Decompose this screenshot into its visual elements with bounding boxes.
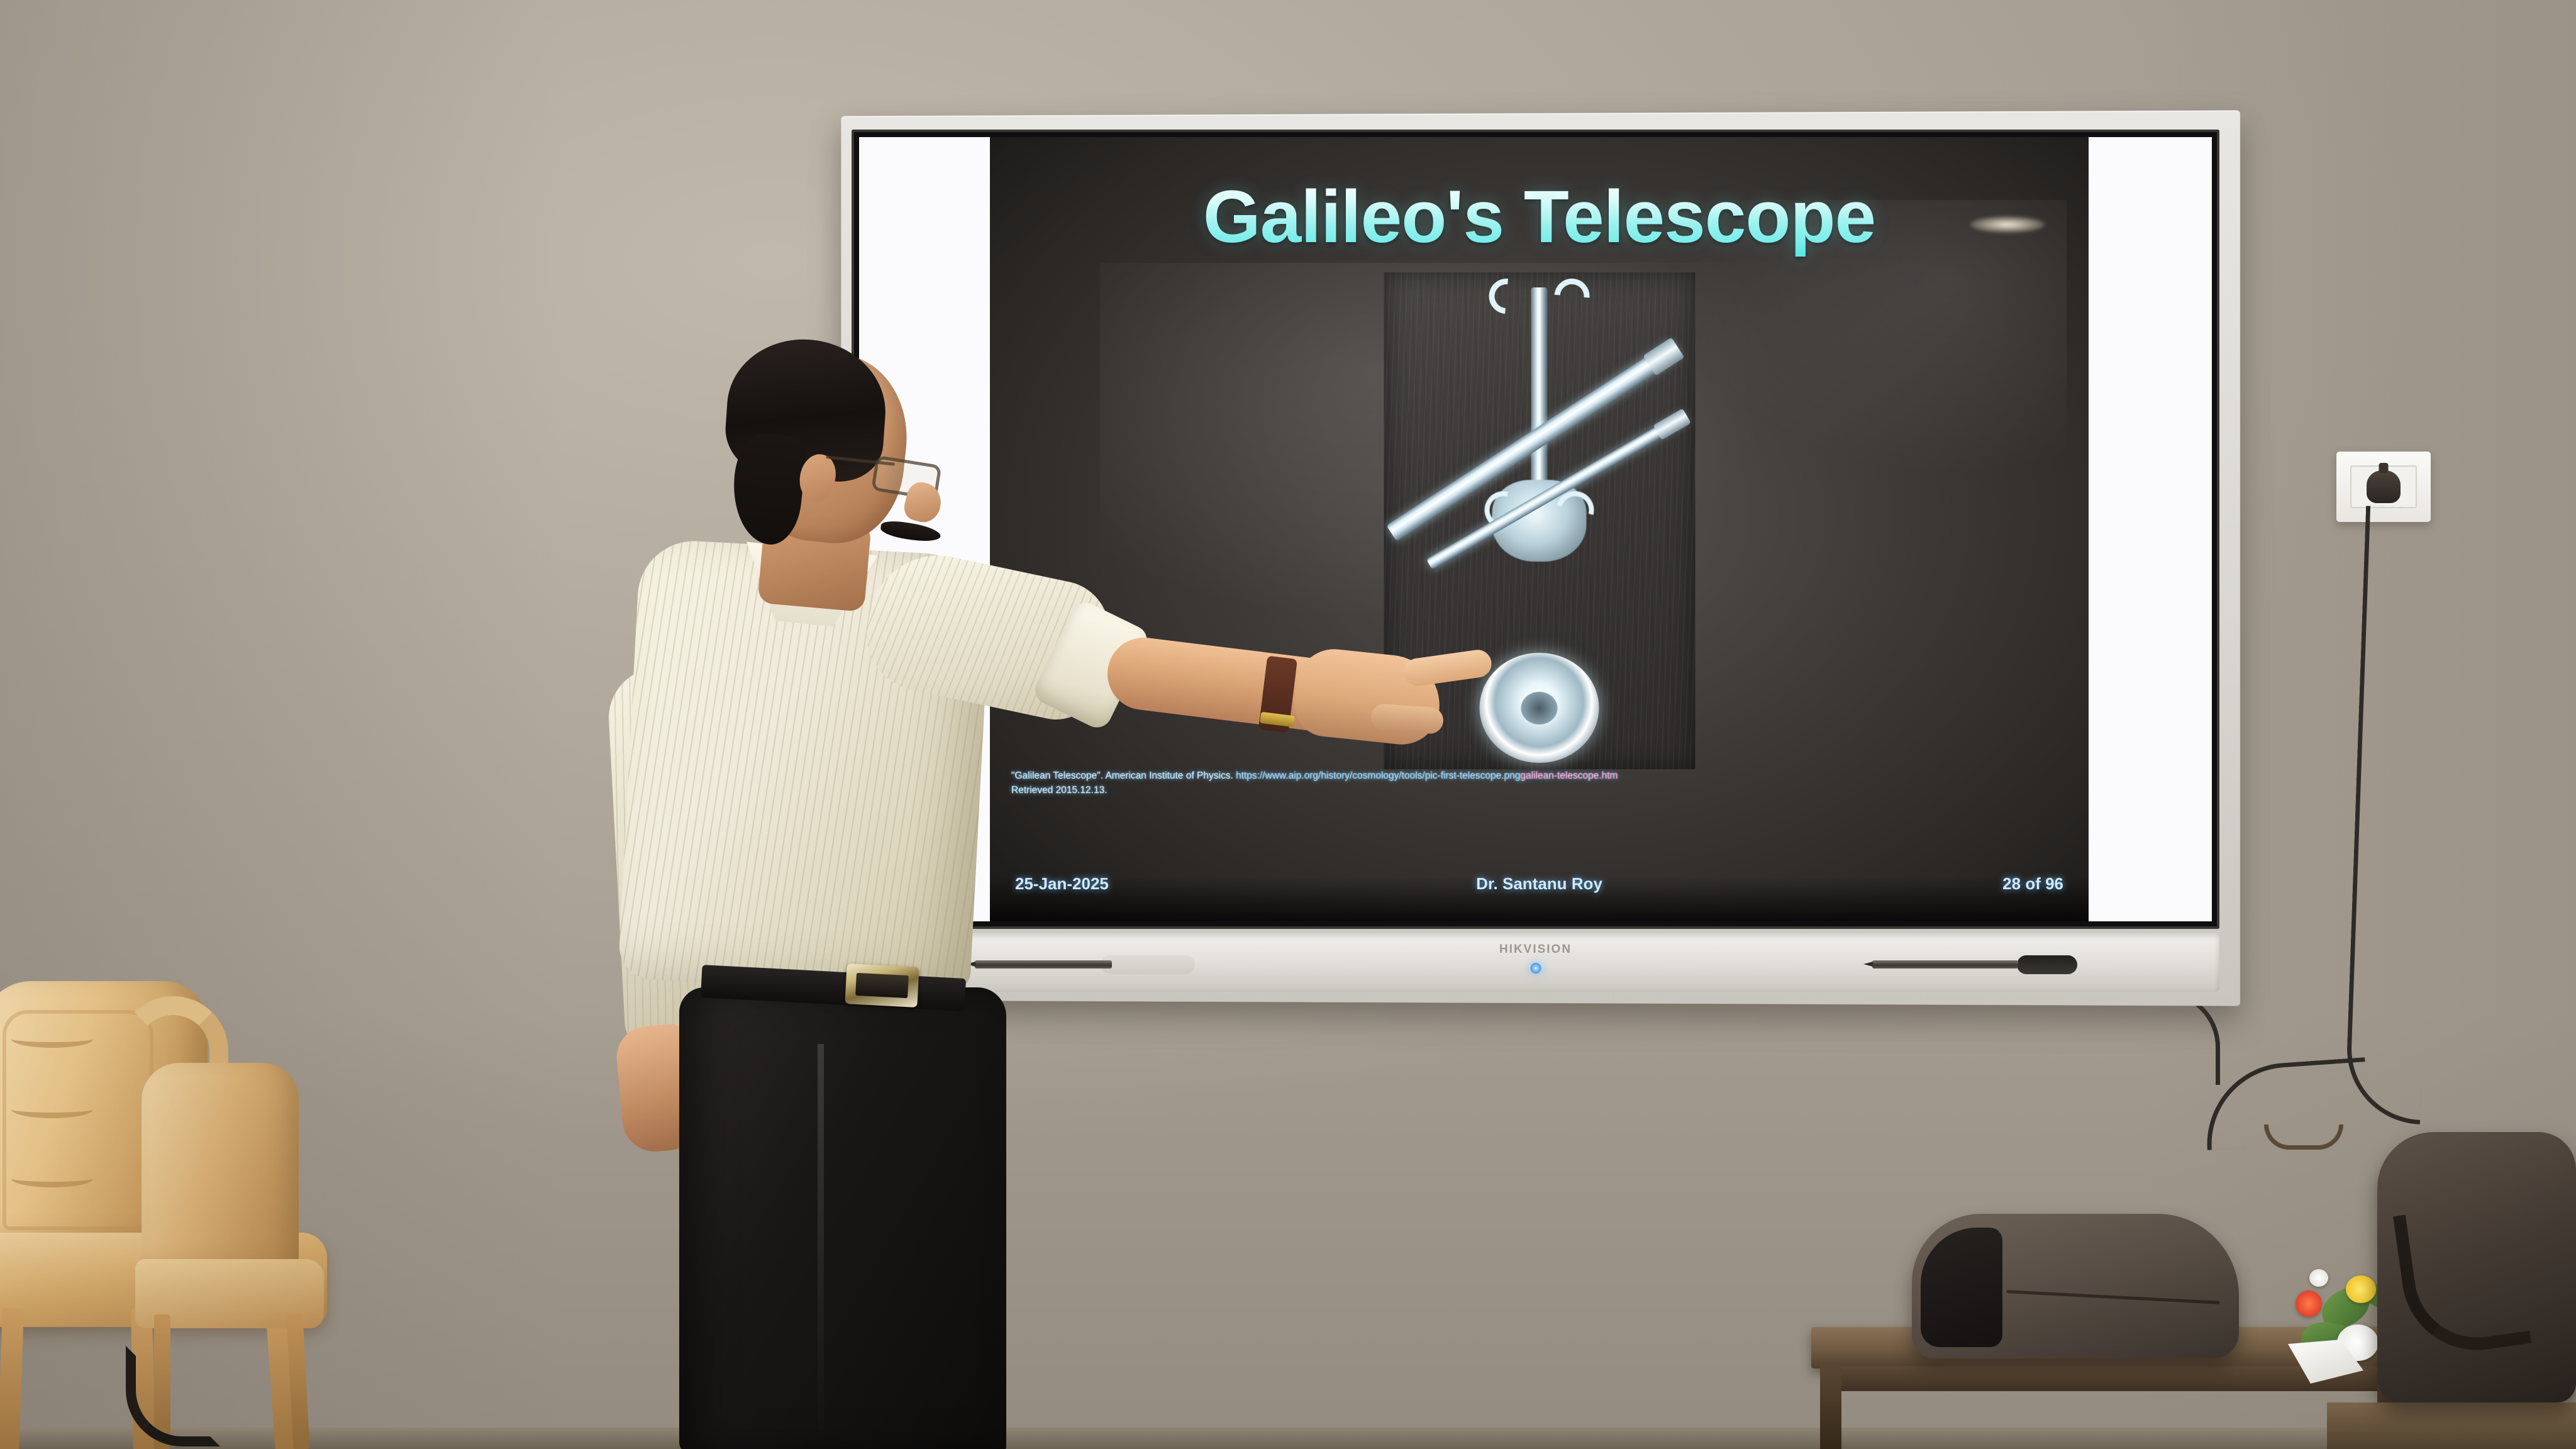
backpack-brown[interactable] — [2377, 1132, 2576, 1402]
slide-title: Galileo's Telescope — [990, 179, 2089, 257]
stylus-pen-right[interactable] — [1872, 960, 2018, 969]
secondary-bench — [2327, 1402, 2576, 1449]
backpack-grey[interactable] — [1912, 1214, 2239, 1358]
chair-backrest — [142, 1063, 299, 1270]
citation-url-tail[interactable]: galilean-telescope.htm — [1520, 770, 1618, 781]
bouquet-flower-yellow — [2346, 1275, 2376, 1303]
backpack-seam — [2006, 1290, 2220, 1304]
citation-url[interactable]: https://www.aip.org/history/cosmology/to… — [1236, 770, 1520, 781]
lecture-room-scene: Galileo's Telescope — [0, 0, 2576, 1449]
telescope-base-disc — [1480, 653, 1599, 763]
telescope-stand-post — [1531, 287, 1548, 495]
slide-footer-slide-number: 28 of 96 — [2002, 874, 2063, 894]
chair-leg — [286, 1314, 309, 1449]
letterbox-bar-right — [2089, 137, 2212, 921]
presenter-trousers — [679, 987, 1006, 1449]
presenter-person — [553, 340, 1245, 1449]
backpack-strap — [2393, 1200, 2531, 1360]
display-brand-label: HIKVISION — [1499, 943, 1572, 957]
trouser-crease — [818, 1044, 824, 1446]
presenter-lower-finger — [1370, 703, 1445, 735]
table-leg — [1820, 1365, 1841, 1449]
presenter-belt-buckle — [845, 963, 919, 1008]
presenter-mustache — [880, 519, 942, 543]
chair-leg — [0, 1307, 24, 1449]
power-plug[interactable] — [2367, 470, 2401, 503]
slide-footer-presenter: Dr. Santanu Roy — [1476, 874, 1602, 894]
bouquet-flower-white — [2309, 1269, 2328, 1287]
backpack-side-panel — [1921, 1228, 2002, 1347]
power-led-indicator[interactable] — [1530, 963, 1541, 974]
stylus-tray-right — [2017, 955, 2077, 974]
bouquet-flower-red — [2296, 1291, 2322, 1317]
